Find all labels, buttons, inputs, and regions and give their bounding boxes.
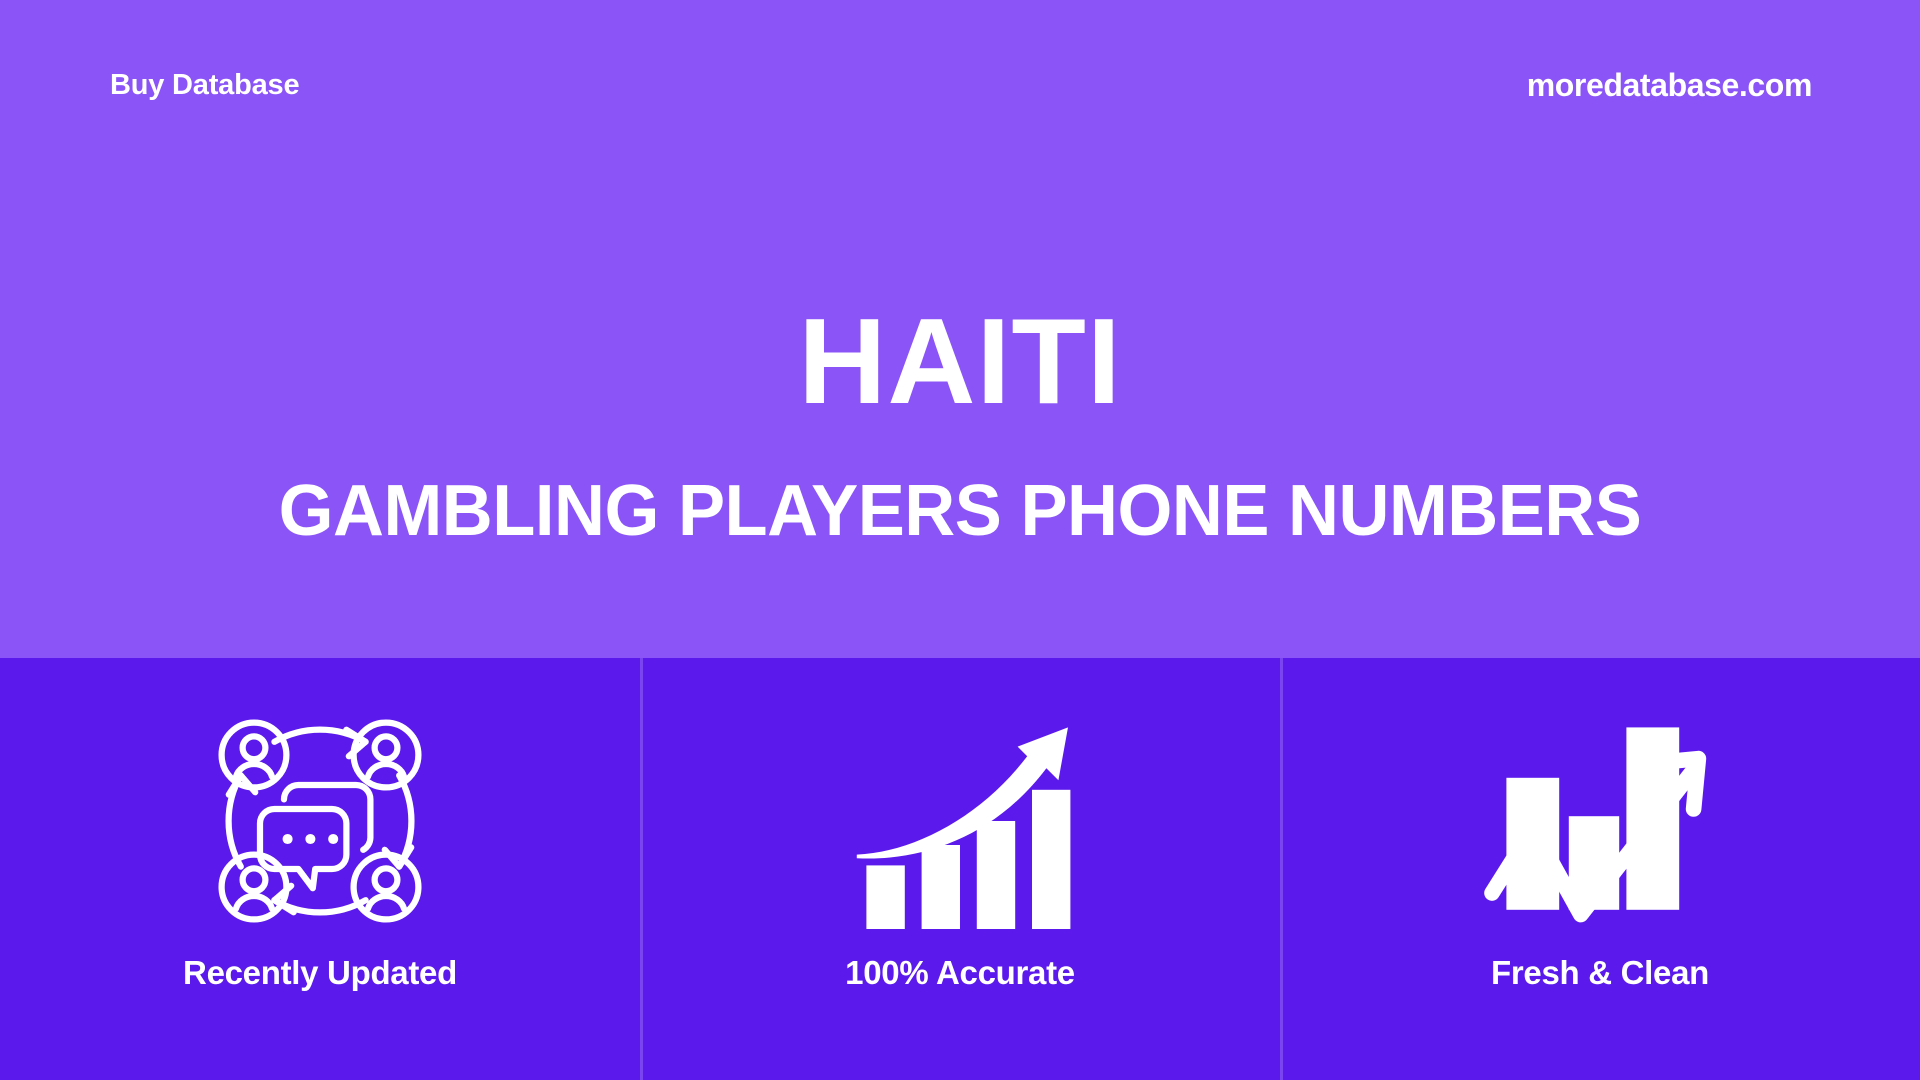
community-network-chat-icon bbox=[200, 696, 440, 946]
country-title: HAITI bbox=[0, 300, 1920, 422]
header-bar: Buy Database moredatabase.com bbox=[0, 0, 1920, 170]
page-subtitle: GAMBLING PLAYERS PHONE NUMBERS bbox=[19, 474, 1901, 550]
feature-fresh-and-clean: Fresh & Clean bbox=[1280, 658, 1920, 1080]
feature-recently-updated: Recently Updated bbox=[0, 658, 640, 1080]
bar-chart-trend-arrow-icon bbox=[1480, 696, 1720, 946]
feature-label: Fresh & Clean bbox=[1491, 954, 1709, 992]
buy-database-label: Buy Database bbox=[110, 69, 299, 102]
hero-text-block: HAITI GAMBLING PLAYERS PHONE NUMBERS bbox=[0, 300, 1920, 550]
hero-section: Buy Database moredatabase.com HAITI GAMB… bbox=[0, 0, 1920, 658]
website-label: moredatabase.com bbox=[1527, 67, 1812, 104]
growth-bar-chart-arrow-icon bbox=[840, 696, 1080, 946]
features-section: Recently Updated 100% Accurate bbox=[0, 658, 1920, 1080]
promo-banner: Buy Database moredatabase.com HAITI GAMB… bbox=[0, 0, 1920, 1080]
feature-100-percent-accurate: 100% Accurate bbox=[640, 658, 1280, 1080]
feature-label: Recently Updated bbox=[183, 954, 457, 992]
feature-label: 100% Accurate bbox=[845, 954, 1075, 992]
